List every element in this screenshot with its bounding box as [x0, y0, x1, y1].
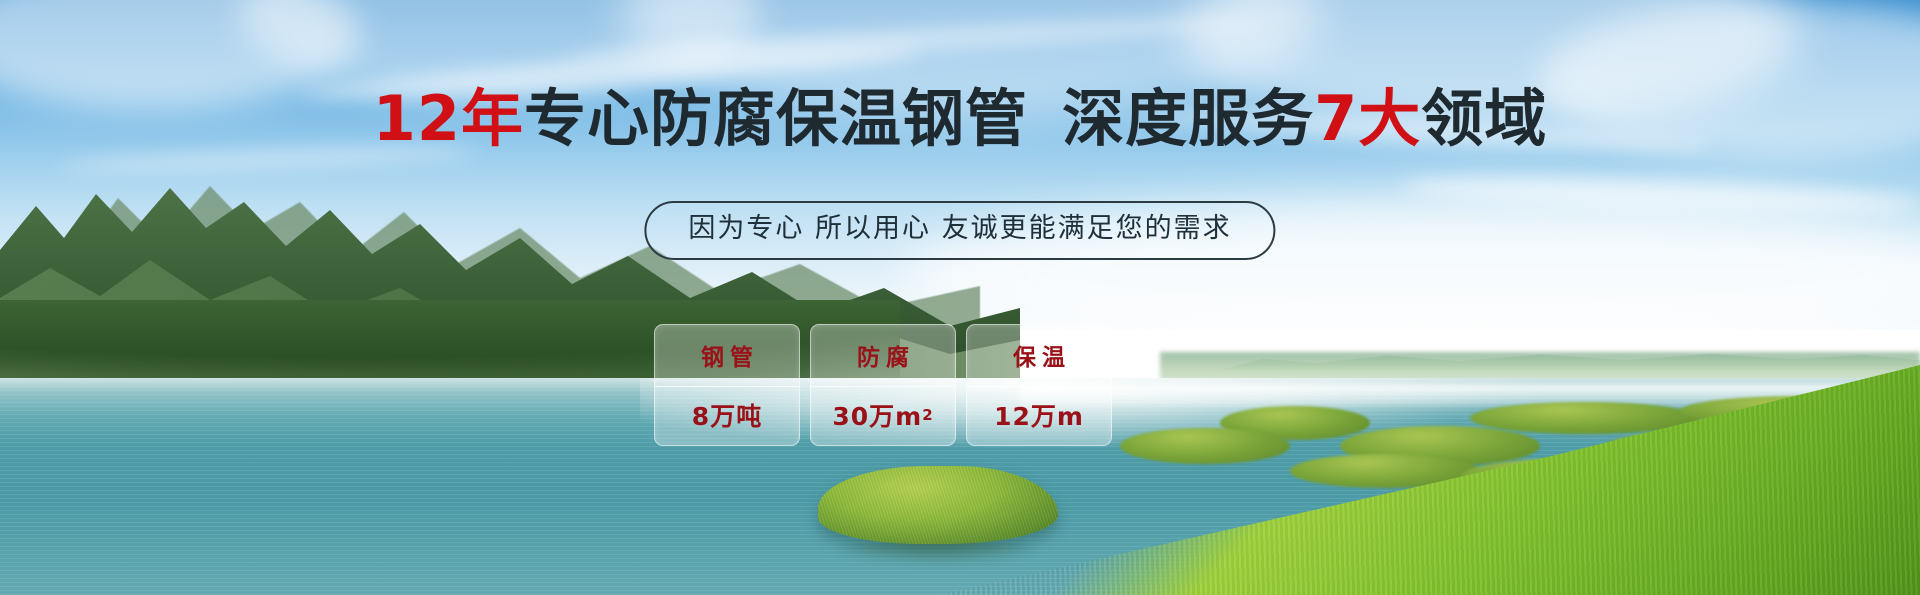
stat-card-insulation[interactable]: 保温 12万m — [966, 324, 1112, 446]
stat-value: 30万m2 — [832, 385, 933, 445]
grass-island-texture — [818, 466, 1058, 544]
headline-segment-service: 深度服务 — [1062, 82, 1314, 155]
stat-value-text: 8万吨 — [692, 397, 762, 433]
card-divider — [811, 386, 955, 387]
headline: 12年专心防腐保温钢管深度服务7大领域 — [0, 86, 1920, 152]
card-divider — [967, 386, 1111, 387]
subtitle-pill: 因为专心 所以用心 友诚更能满足您的需求 — [644, 201, 1275, 260]
headline-segment-focus: 专心防腐保温钢管 — [524, 82, 1028, 155]
stat-title: 防腐 — [851, 325, 915, 385]
stat-card-anticorrosion[interactable]: 防腐 30万m2 — [810, 324, 956, 446]
headline-segment-years: 12年 — [373, 82, 524, 155]
marsh-patch — [1120, 428, 1290, 464]
stat-value-text: 30万m — [832, 397, 922, 433]
headline-segment-fields: 领域 — [1421, 82, 1547, 155]
stat-value: 8万吨 — [692, 385, 762, 445]
promo-banner: 12年专心防腐保温钢管深度服务7大领域 因为专心 所以用心 友诚更能满足您的需求… — [0, 0, 1920, 595]
stat-card-steel-pipe[interactable]: 钢管 8万吨 — [654, 324, 800, 446]
stat-value-text: 12万m — [994, 397, 1084, 433]
stat-title: 钢管 — [695, 325, 759, 385]
headline-segment-seven: 7大 — [1314, 82, 1421, 155]
stat-value: 12万m — [994, 385, 1084, 445]
card-divider — [655, 386, 799, 387]
stat-card-group: 钢管 8万吨 防腐 30万m2 保温 12万m — [654, 324, 1112, 446]
stat-title: 保温 — [1007, 325, 1071, 385]
